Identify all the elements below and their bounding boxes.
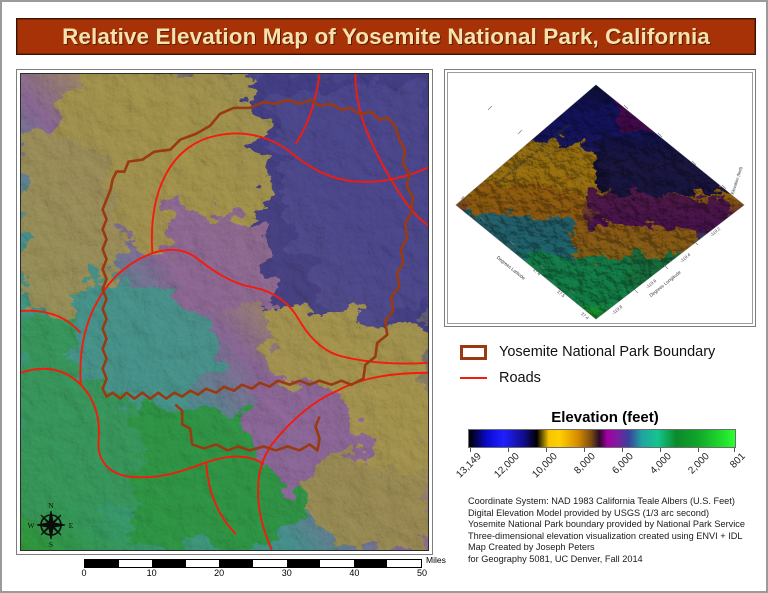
compass-east-label: E <box>69 521 74 530</box>
credit-line: Yosemite National Park boundary provided… <box>468 519 760 531</box>
legend-label-park-boundary: Yosemite National Park Boundary <box>499 344 715 360</box>
elevation-ramp-labels: 13,149 12,000 10,000 8,000 6,000 4,000 2… <box>448 451 768 481</box>
elevation-tick-label: 2,000 <box>686 451 711 476</box>
scale-unit-label: Miles <box>426 555 446 565</box>
credits-block: Coordinate System: NAD 1983 California T… <box>468 496 760 566</box>
elevation-tick-label: 6,000 <box>610 451 635 476</box>
credit-line: Map Created by Joseph Peters <box>468 542 760 554</box>
elevation-tick-label: 4,000 <box>648 451 673 476</box>
compass-rose: N S E W <box>26 498 76 548</box>
credit-line: Three-dimensional elevation visualizatio… <box>468 531 760 543</box>
elevation-3d-visualization: Yosemite National Park and Vicinity, Cal… <box>448 73 753 324</box>
compass-south-label: S <box>49 540 53 548</box>
legend-item-roads: Roads <box>460 365 750 391</box>
elevation-tick-label: 10,000 <box>530 451 559 480</box>
roads-swatch <box>460 377 487 379</box>
inset-3d-panel[interactable]: Yosemite National Park and Vicinity, Cal… <box>447 72 753 324</box>
scale-tick: 50 <box>417 568 427 578</box>
legend-label-roads: Roads <box>499 370 541 386</box>
elevation-color-ramp <box>468 429 736 448</box>
credit-line: Coordinate System: NAD 1983 California T… <box>468 496 760 508</box>
terrain-raster <box>21 74 428 550</box>
elevation-tick-label: 13,149 <box>454 451 483 480</box>
legend-item-park-boundary: Yosemite National Park Boundary <box>460 339 750 365</box>
inset-vertical-axis-label: Elevation (feet) <box>730 165 744 195</box>
scale-tick: 20 <box>214 568 224 578</box>
park-boundary-swatch <box>460 345 487 360</box>
elevation-tick-label: 12,000 <box>492 451 521 480</box>
page-title: Relative Elevation Map of Yosemite Natio… <box>62 24 710 50</box>
scale-tick: 30 <box>282 568 292 578</box>
scale-tick: 0 <box>81 568 86 578</box>
elevation-legend-title: Elevation (feet) <box>460 409 750 426</box>
scale-bar <box>84 559 422 568</box>
credit-line: for Geography 5081, UC Denver, Fall 2014 <box>468 554 760 566</box>
scale-bar-ticks: 0 10 20 30 40 50 <box>74 568 434 582</box>
elevation-tick-label: 8,000 <box>572 451 597 476</box>
scale-tick: 40 <box>349 568 359 578</box>
compass-north-label: N <box>48 501 54 510</box>
scale-tick: 10 <box>147 568 157 578</box>
poster-title-bar: Relative Elevation Map of Yosemite Natio… <box>16 18 756 55</box>
map-legend: Yosemite National Park Boundary Roads <box>460 339 750 391</box>
compass-west-label: W <box>27 521 35 530</box>
main-map-canvas[interactable] <box>20 73 429 551</box>
map-poster: Relative Elevation Map of Yosemite Natio… <box>0 0 768 593</box>
elevation-tick-label: 801 <box>728 451 748 471</box>
credit-line: Digital Elevation Model provided by USGS… <box>468 508 760 520</box>
